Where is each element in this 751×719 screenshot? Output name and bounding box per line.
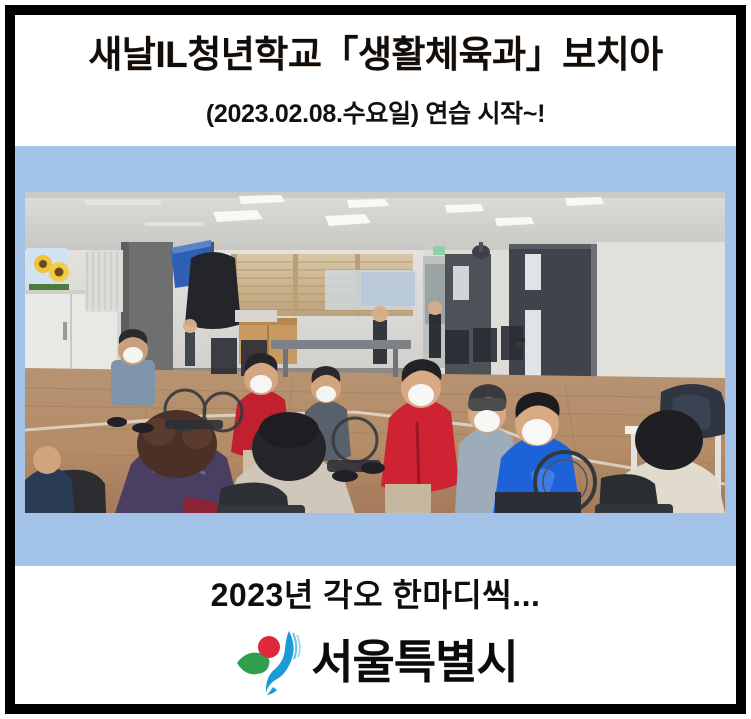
poster-footer: 2023년 각오 한마디씩... 서울특별시	[15, 566, 736, 704]
poster-header: 새날IL청년학교「생활체육과」보치아 (2023.02.08.수요일) 연습 시…	[15, 15, 736, 146]
page-subtitle: (2023.02.08.수요일) 연습 시작~!	[15, 99, 736, 129]
poster-root: 새날IL청년학교「생활체육과」보치아 (2023.02.08.수요일) 연습 시…	[0, 0, 751, 719]
footer-caption: 2023년 각오 한마디씩...	[15, 574, 736, 616]
seoul-emblem-icon	[233, 627, 305, 697]
event-photo	[25, 192, 725, 513]
page-title: 새날IL청년학교「생활체육과」보치아	[15, 33, 736, 77]
event-photo-illustration	[25, 192, 725, 513]
seoul-logo-text: 서울특별시	[311, 636, 518, 688]
seoul-logo: 서울특별시	[15, 624, 736, 700]
